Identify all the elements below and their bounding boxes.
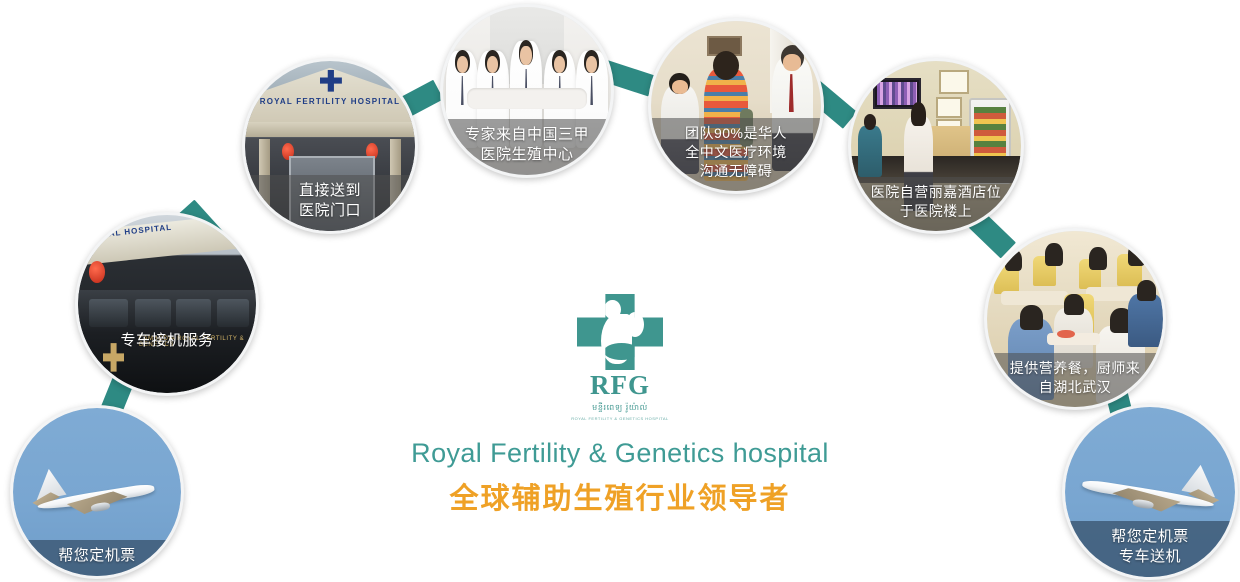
airplane-icon [37,465,155,529]
caption-line: 专家来自中国三甲 [447,125,607,145]
step-caption: 帮您定机票 [13,540,181,576]
brand-logo: RFG មន្ទីរពេទ្យ រ៉ូយ៉ាល់ ROYAL FERTILITY… [562,294,678,421]
logo-khmer-text: មន្ទីរពេទ្យ រ៉ូយ៉ាល់ [562,402,678,414]
caption-line: 自湖北武汉 [991,378,1159,397]
step-circle-expert-doctors[interactable]: 专家来自中国三甲 医院生殖中心 [440,4,614,178]
infographic-canvas: 帮您定机票 ROYAL HOSPITAL CAMBODIA ROYAL FERT… [0,0,1240,582]
headline-chinese: 全球辅助生殖行业领导者 [0,475,1240,517]
caption-line: 医院生殖中心 [447,145,607,165]
headline-english: Royal Fertility & Genetics hospital [0,438,1240,469]
logo-subtext: ROYAL FERTILITY & GENETICS HOSPITAL [562,416,678,421]
step-caption: 医院自营丽嘉酒店位 于医院楼上 [851,177,1021,231]
caption-line: 帮您定机票 [1069,527,1231,547]
step-caption: 提供营养餐，厨师来 自湖北武汉 [987,353,1163,407]
caption-line: 团队90%是华人 [655,124,817,143]
step-caption: 专车接机服务 [78,325,256,351]
medical-cross-mother-child-icon [577,294,663,370]
caption-line: 于医院楼上 [855,202,1017,221]
caption-line: 提供营养餐，厨师来 [991,359,1159,378]
step-circle-send-off[interactable]: 帮您定机票 专车送机 [1062,404,1238,580]
step-circle-book-flight[interactable]: 帮您定机票 [10,405,184,579]
step-circle-hospital-door[interactable]: ROYAL FERTILITY HOSPITAL 直接送到 医院门口 [242,58,418,234]
caption-line: 沟通无障碍 [655,162,817,181]
step-circle-own-hotel[interactable]: 医院自营丽嘉酒店位 于医院楼上 [848,58,1024,234]
caption-line: 全中文医疗环境 [655,143,817,162]
headline-block: Royal Fertility & Genetics hospital 全球辅助… [0,438,1240,517]
caption-line: 直接送到 [249,181,411,201]
caption-line: 医院门口 [249,201,411,221]
step-circle-nutrition-meals[interactable]: 提供营养餐，厨师来 自湖北武汉 [984,228,1166,410]
caption-line: 专车接机服务 [82,331,252,351]
airplane-icon [1082,461,1215,526]
step-caption: 直接送到 医院门口 [245,175,415,232]
caption-line: 帮您定机票 [17,546,177,566]
caption-line: 专车送机 [1069,547,1231,567]
step-caption: 团队90%是华人 全中文医疗环境 沟通无障碍 [651,118,821,191]
logo-initials: RFG [562,372,678,399]
step-circle-chinese-team[interactable]: 团队90%是华人 全中文医疗环境 沟通无障碍 [648,18,824,194]
step-caption: 帮您定机票 专车送机 [1065,521,1235,578]
step-circle-airport-pickup[interactable]: ROYAL HOSPITAL CAMBODIA ROYAL FERTILITY … [75,212,259,396]
step-caption: 专家来自中国三甲 医院生殖中心 [443,119,611,176]
facade-sign-text: ROYAL FERTILITY HOSPITAL [245,97,415,106]
photo-pickup-van: ROYAL HOSPITAL CAMBODIA ROYAL FERTILITY … [78,215,256,393]
caption-line: 医院自营丽嘉酒店位 [855,183,1017,202]
